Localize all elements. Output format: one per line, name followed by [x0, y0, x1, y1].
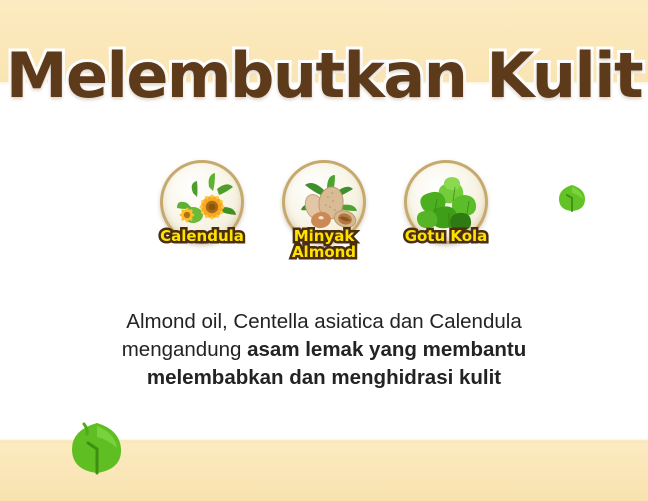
infographic-canvas: Melembutkan Kulit — [0, 0, 648, 501]
ingredient-item-almond[interactable]: Minyak Almond — [282, 160, 366, 244]
body-copy: Almond oil, Centella asiatica dan Calend… — [54, 308, 594, 392]
title-container: Melembutkan Kulit — [0, 40, 648, 112]
ingredient-label-calendula: Calendula — [160, 228, 244, 244]
ingredient-item-calendula[interactable]: Calendula — [160, 160, 244, 244]
page-title: Melembutkan Kulit — [6, 40, 642, 112]
ingredient-list: Calendula — [0, 160, 648, 244]
body-line-3-bold: melembabkan dan menghidrasi kulit — [147, 366, 501, 389]
ingredient-label-almond: Minyak Almond — [281, 228, 367, 260]
leaf-icon-right — [556, 182, 588, 214]
body-line-2-bold: asam lemak yang membantu — [247, 338, 526, 361]
ingredient-item-gotu-kola[interactable]: Gotu Kola — [404, 160, 488, 244]
leaf-icon-bottom-left — [70, 420, 124, 476]
body-line-2-regular: mengandung — [122, 338, 247, 361]
ingredient-label-gotu-kola: Gotu Kola — [405, 228, 488, 244]
body-line-1: Almond oil, Centella asiatica dan Calend… — [126, 310, 521, 333]
